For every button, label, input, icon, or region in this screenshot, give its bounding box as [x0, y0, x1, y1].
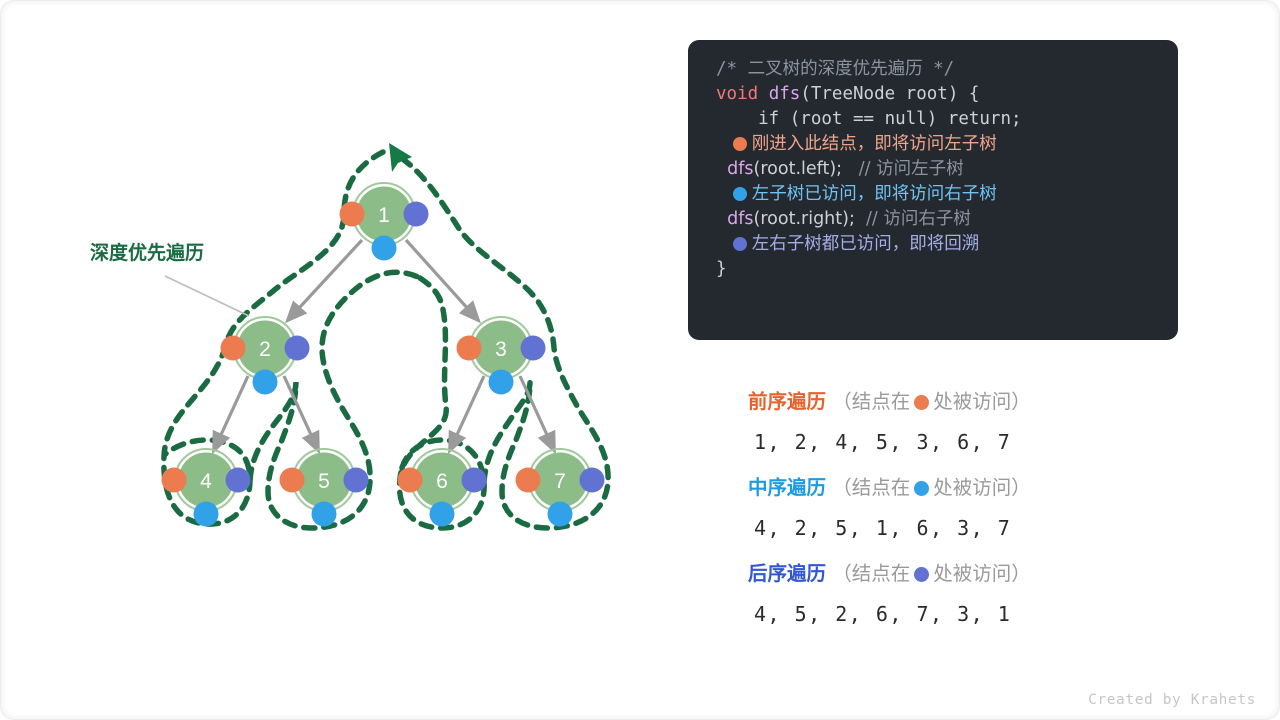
code-token: /* 二叉树的深度优先遍历 */ — [716, 59, 954, 79]
code-comment-line: 左子树已访问，即将访问右子树 — [688, 182, 1178, 207]
code-panel: /* 二叉树的深度优先遍历 */ void dfs(TreeNode root)… — [688, 40, 1178, 340]
code-comment-text: 左右子树都已访问，即将回溯 — [752, 234, 980, 254]
inorder-dot-icon — [914, 481, 929, 496]
preorder-note-suffix: 处被访问） — [933, 390, 1031, 413]
postorder-dot — [285, 336, 310, 361]
code-token: } — [716, 259, 727, 279]
code-token: dfs — [727, 209, 753, 229]
inorder-dot — [548, 502, 573, 527]
code-token — [716, 209, 727, 229]
postorder-dot — [404, 202, 429, 227]
inorder-sequence: 4, 2, 5, 1, 6, 3, 7 — [748, 505, 1218, 551]
inorder-dot-icon — [733, 187, 747, 201]
node-label: 7 — [554, 470, 566, 493]
inorder-dot — [489, 370, 514, 395]
edge-2-4 — [214, 376, 248, 450]
credit-text: Created by Krahets — [1088, 692, 1256, 708]
preorder-note-prefix: （结点在 — [832, 390, 910, 413]
node-label: 4 — [200, 470, 212, 493]
code-token — [758, 84, 769, 104]
preorder-dot-icon — [733, 137, 747, 151]
figure-canvas: 1 2 3 — [0, 0, 1280, 720]
binary-tree-diagram: 1 2 3 — [0, 0, 680, 720]
code-token: (TreeNode root) { — [800, 84, 979, 104]
code-token — [716, 159, 727, 179]
inorder-title: 中序遍历 — [748, 476, 826, 499]
postorder-dot-icon — [733, 237, 747, 251]
preorder-dot-icon — [914, 395, 929, 410]
code-comment-text: 左子树已访问，即将访问右子树 — [752, 184, 997, 204]
node-label: 3 — [495, 338, 507, 361]
code-comment-text: 刚进入此结点，即将访问左子树 — [752, 134, 997, 154]
dfs-annotation-label: 深度优先遍历 — [90, 241, 204, 264]
inorder-dot — [372, 236, 397, 261]
code-line: /* 二叉树的深度优先遍历 */ — [688, 57, 1178, 82]
code-token: // 访问右子树 — [866, 209, 971, 229]
preorder-title: 前序遍历 — [748, 390, 826, 413]
code-line: void dfs(TreeNode root) { — [688, 82, 1178, 107]
preorder-dot — [221, 336, 246, 361]
inorder-dot — [430, 502, 455, 527]
postorder-dot — [462, 468, 487, 493]
preorder-dot — [457, 336, 482, 361]
node-label: 5 — [318, 470, 330, 493]
code-token: dfs — [769, 84, 801, 104]
preorder-dot — [516, 468, 541, 493]
inorder-dot — [253, 370, 278, 395]
preorder-dot — [398, 468, 423, 493]
postorder-note-prefix: （结点在 — [832, 562, 910, 585]
preorder-dot — [280, 468, 305, 493]
code-line: dfs(root.right); // 访问右子树 — [688, 207, 1178, 232]
postorder-dot-icon — [914, 567, 929, 582]
postorder-note-suffix: 处被访问） — [933, 562, 1031, 585]
code-token: dfs — [727, 159, 753, 179]
postorder-sequence: 4, 5, 2, 6, 7, 3, 1 — [748, 591, 1218, 637]
postorder-dot — [226, 468, 251, 493]
postorder-dot — [580, 468, 605, 493]
inorder-dot — [312, 502, 337, 527]
preorder-result-block: 前序遍历 （结点在处被访问） 1, 2, 4, 5, 3, 6, 7 — [748, 385, 1218, 465]
postorder-title: 后序遍历 — [748, 562, 826, 585]
node-label: 6 — [436, 470, 448, 493]
inorder-heading: 中序遍历 （结点在处被访问） — [748, 471, 1218, 505]
code-line: } — [688, 257, 1178, 282]
code-token: void — [716, 84, 758, 104]
inorder-dot — [194, 502, 219, 527]
edge-3-6 — [450, 376, 484, 450]
preorder-dot — [340, 202, 365, 227]
postorder-dot — [344, 468, 369, 493]
node-label: 2 — [259, 338, 271, 361]
code-token: // 访问左子树 — [859, 159, 964, 179]
code-line: if (root == null) return; — [688, 107, 1178, 132]
inorder-note-suffix: 处被访问） — [933, 476, 1031, 499]
code-line: dfs(root.left); // 访问左子树 — [688, 157, 1178, 182]
postorder-dot — [521, 336, 546, 361]
node-label: 1 — [378, 204, 390, 227]
postorder-result-block: 后序遍历 （结点在处被访问） 4, 5, 2, 6, 7, 3, 1 — [748, 557, 1218, 637]
inorder-result-block: 中序遍历 （结点在处被访问） 4, 2, 5, 1, 6, 3, 7 — [748, 471, 1218, 551]
start-play-marker — [389, 143, 412, 172]
annotation-leader-line — [165, 276, 249, 316]
preorder-dot — [162, 468, 187, 493]
preorder-heading: 前序遍历 （结点在处被访问） — [748, 385, 1218, 419]
code-comment-line: 刚进入此结点，即将访问左子树 — [688, 132, 1178, 157]
inorder-note-prefix: （结点在 — [832, 476, 910, 499]
code-comment-line: 左右子树都已访问，即将回溯 — [688, 232, 1178, 257]
tree-node[interactable]: 5 — [280, 449, 369, 527]
code-token: (root.right); — [754, 209, 866, 229]
code-token: (root.left); — [754, 159, 859, 179]
postorder-heading: 后序遍历 （结点在处被访问） — [748, 557, 1218, 591]
traversal-results: 前序遍历 （结点在处被访问） 1, 2, 4, 5, 3, 6, 7 中序遍历 … — [748, 385, 1218, 643]
preorder-sequence: 1, 2, 4, 5, 3, 6, 7 — [748, 419, 1218, 465]
code-token: if (root == null) return; — [716, 109, 1022, 129]
